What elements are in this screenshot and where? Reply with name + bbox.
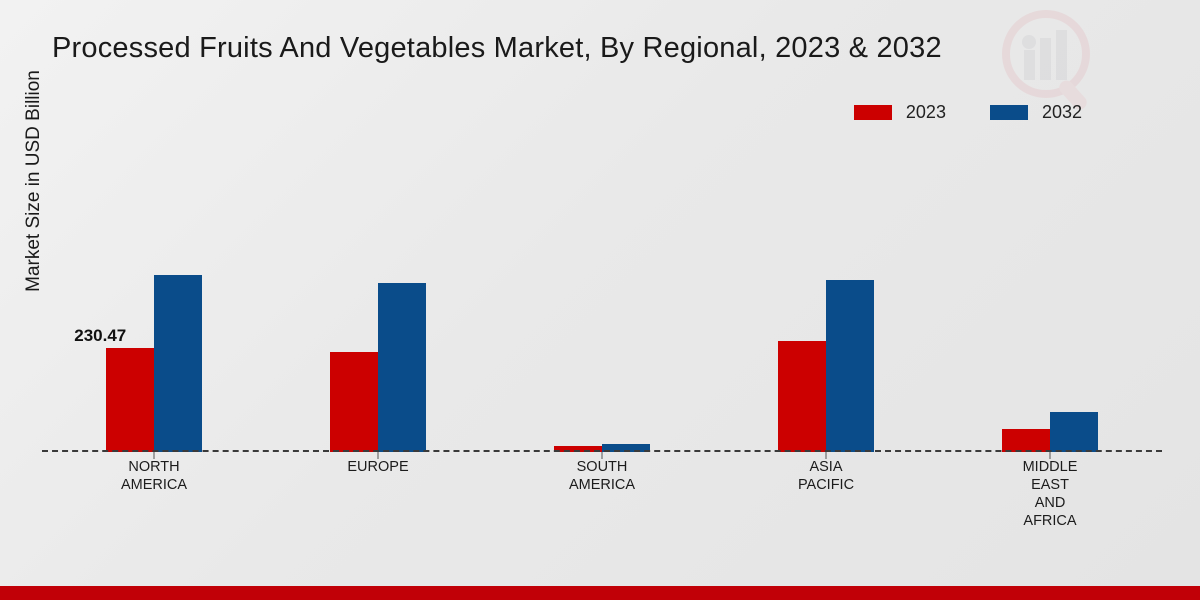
x-axis-label-europe: EUROPE xyxy=(266,458,490,530)
bars xyxy=(554,150,650,452)
bar-groups: 230.47 xyxy=(42,150,1162,452)
bars xyxy=(778,150,874,452)
legend-label-2032: 2032 xyxy=(1042,103,1082,121)
bar-2023-asia-pacific[interactable] xyxy=(778,341,826,452)
legend-swatch-2032 xyxy=(990,105,1028,120)
bar-2023-europe[interactable] xyxy=(330,352,378,452)
x-axis-label-line: AMERICA xyxy=(42,476,266,494)
x-axis-label-line: NORTH xyxy=(42,458,266,476)
x-axis-label-line: AFRICA xyxy=(938,512,1162,530)
bar-group-south-america xyxy=(490,150,714,452)
bars xyxy=(330,150,426,452)
legend-label-2023: 2023 xyxy=(906,103,946,121)
bar-group-north-america: 230.47 xyxy=(42,150,266,452)
bars xyxy=(1002,150,1098,452)
x-axis-label-middle-east-and-africa: MIDDLE EAST AND AFRICA xyxy=(938,458,1162,530)
x-axis-label-line: SOUTH xyxy=(490,458,714,476)
legend-item-2023[interactable]: 2023 xyxy=(854,103,946,121)
x-axis-label-line: EUROPE xyxy=(266,458,490,476)
footer-accent-bar xyxy=(0,586,1200,600)
x-axis-labels: NORTH AMERICA EUROPE SOUTH AMERICA ASIA … xyxy=(42,458,1162,530)
chart-legend: 2023 2032 xyxy=(854,103,1082,121)
chart-title: Processed Fruits And Vegetables Market, … xyxy=(52,32,942,65)
x-axis-label-south-america: SOUTH AMERICA xyxy=(490,458,714,530)
bar-group-middle-east-and-africa xyxy=(938,150,1162,452)
bar-2032-asia-pacific[interactable] xyxy=(826,280,874,452)
bar-value-label-north-america-2023: 230.47 xyxy=(74,326,126,346)
bar-2023-middle-east-and-africa[interactable] xyxy=(1002,429,1050,452)
bar-2032-middle-east-and-africa[interactable] xyxy=(1050,412,1098,452)
chart-container: Processed Fruits And Vegetables Market, … xyxy=(0,0,1200,600)
legend-swatch-2023 xyxy=(854,105,892,120)
x-axis-label-line: MIDDLE xyxy=(938,458,1162,476)
legend-item-2032[interactable]: 2032 xyxy=(990,103,1082,121)
bar-group-asia-pacific xyxy=(714,150,938,452)
x-axis-label-asia-pacific: ASIA PACIFIC xyxy=(714,458,938,530)
x-axis-label-line: ASIA xyxy=(714,458,938,476)
x-axis-label-line: AMERICA xyxy=(490,476,714,494)
bar-group-europe xyxy=(266,150,490,452)
plot-area: 230.47 xyxy=(42,150,1162,452)
bar-2023-north-america[interactable] xyxy=(106,348,154,452)
watermark-logo-icon xyxy=(1000,2,1096,114)
bar-2032-europe[interactable] xyxy=(378,283,426,452)
bar-2032-north-america[interactable] xyxy=(154,275,202,452)
x-axis-label-north-america: NORTH AMERICA xyxy=(42,458,266,530)
bars xyxy=(106,150,202,452)
x-axis-label-line: PACIFIC xyxy=(714,476,938,494)
x-axis-label-line: AND xyxy=(938,494,1162,512)
x-axis-label-line: EAST xyxy=(938,476,1162,494)
x-axis-baseline xyxy=(42,450,1162,452)
